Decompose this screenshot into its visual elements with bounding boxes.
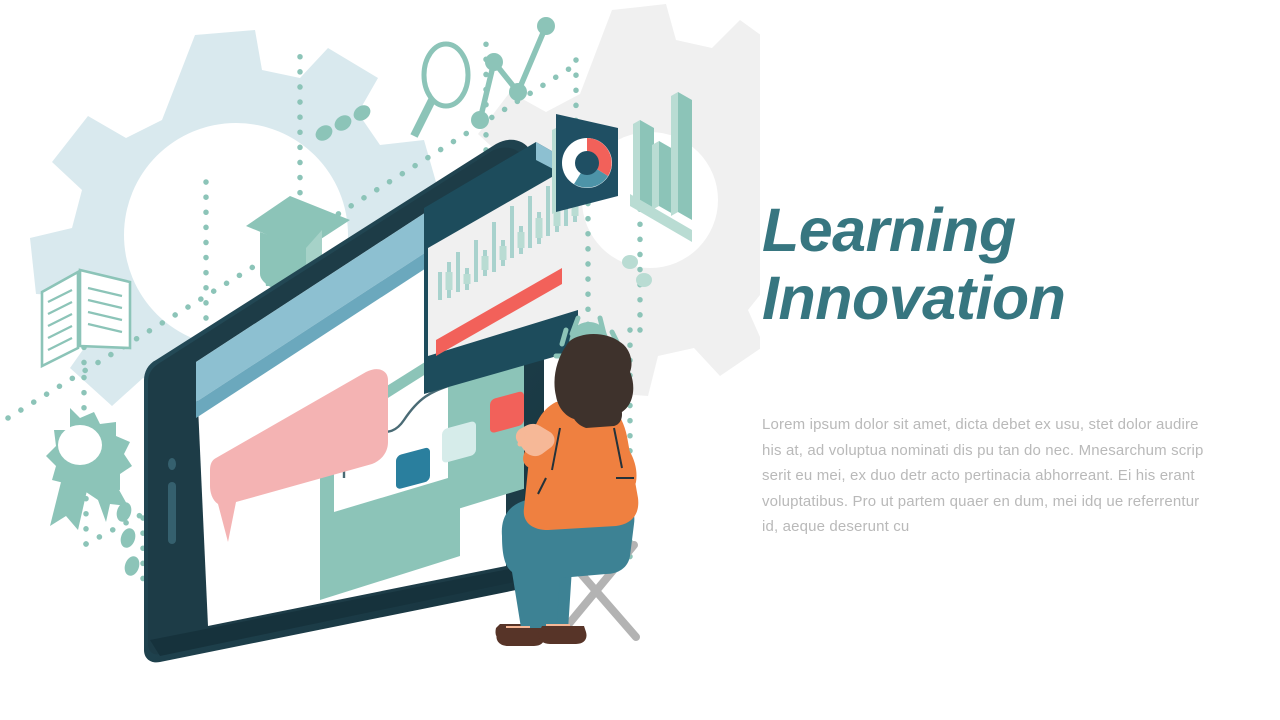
magnifier-icon — [414, 44, 468, 136]
text-column: Learning Innovation Lorem ipsum dolor si… — [762, 0, 1212, 720]
page-title: Learning Innovation — [762, 196, 1202, 332]
hero-illustration — [0, 0, 760, 720]
body-paragraph: Lorem ipsum dolor sit amet, dicta debet … — [762, 412, 1204, 540]
slide-root: Learning Innovation Lorem ipsum dolor si… — [0, 0, 1280, 720]
